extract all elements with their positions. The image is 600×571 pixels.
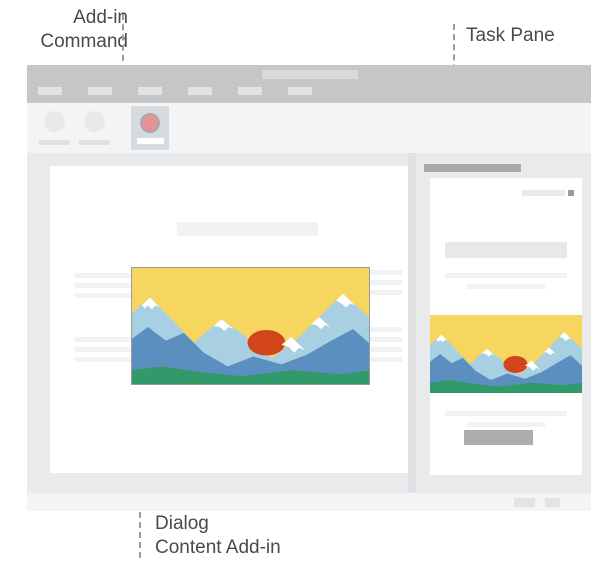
add-in-command-label-placeholder <box>137 138 164 144</box>
document-text-line <box>370 347 402 352</box>
task-pane-title-placeholder <box>522 190 565 196</box>
office-application-window <box>27 65 591 493</box>
document-text-line <box>370 270 402 275</box>
generic-command-2-label-placeholder <box>79 140 110 145</box>
document-picture[interactable] <box>131 267 370 385</box>
task-pane <box>416 153 591 493</box>
task-pane-picture[interactable] <box>430 315 582 393</box>
ribbon-tab-1[interactable] <box>38 87 62 95</box>
ribbon-command-strip <box>27 103 591 153</box>
diagram-canvas: Add-in Command Task Pane Dialog Content … <box>0 0 600 571</box>
document-text-line <box>370 290 402 295</box>
callout-label-dialog-content-addin: Dialog Content Add-in <box>155 512 281 560</box>
pane-divider[interactable] <box>408 153 416 493</box>
ribbon-tab-2[interactable] <box>88 87 112 95</box>
document-text-line <box>75 283 131 288</box>
window-title-placeholder <box>262 70 358 79</box>
document-text-line <box>370 327 402 332</box>
ribbon-tab-list <box>38 87 312 95</box>
task-pane-text-line <box>467 284 545 289</box>
document-text-line <box>370 337 402 342</box>
ribbon-tab-4[interactable] <box>188 87 212 95</box>
document-text-line <box>75 293 131 298</box>
ribbon-bar <box>27 65 591 103</box>
close-icon[interactable] <box>568 190 574 196</box>
status-bar <box>27 493 591 511</box>
document-workspace <box>27 153 591 493</box>
task-pane-header-placeholder <box>424 164 521 172</box>
task-pane-text-line <box>467 422 545 427</box>
ribbon-tab-3[interactable] <box>138 87 162 95</box>
task-pane-body <box>430 178 582 475</box>
document-text-line <box>370 357 402 362</box>
document-text-line <box>75 273 131 278</box>
generic-command-1-icon <box>44 111 65 132</box>
generic-command-1[interactable] <box>44 111 70 145</box>
document-text-line <box>370 280 402 285</box>
ribbon-tab-5[interactable] <box>238 87 262 95</box>
document-heading-placeholder <box>177 222 318 236</box>
document-page[interactable] <box>50 166 421 473</box>
document-text-line <box>75 347 131 352</box>
mountain-sunset-illustration <box>132 268 370 385</box>
document-text-line <box>75 357 131 362</box>
add-in-command-icon <box>140 113 160 133</box>
status-chip-2[interactable] <box>545 498 560 507</box>
callout-label-addin-command: Add-in Command <box>16 6 128 54</box>
add-in-command-button[interactable] <box>131 106 169 150</box>
task-pane-text-line <box>445 273 567 278</box>
mountain-sunset-illustration <box>430 315 582 393</box>
ribbon-tab-6[interactable] <box>288 87 312 95</box>
generic-command-2[interactable] <box>84 111 110 145</box>
document-text-line <box>75 337 131 342</box>
callout-label-task-pane: Task Pane <box>466 24 555 48</box>
task-pane-content-block <box>445 242 567 258</box>
generic-command-1-label-placeholder <box>39 140 70 145</box>
task-pane-text-line <box>445 411 567 416</box>
generic-command-2-icon <box>84 111 105 132</box>
task-pane-action-button[interactable] <box>464 430 533 445</box>
status-chip-1[interactable] <box>514 498 535 507</box>
